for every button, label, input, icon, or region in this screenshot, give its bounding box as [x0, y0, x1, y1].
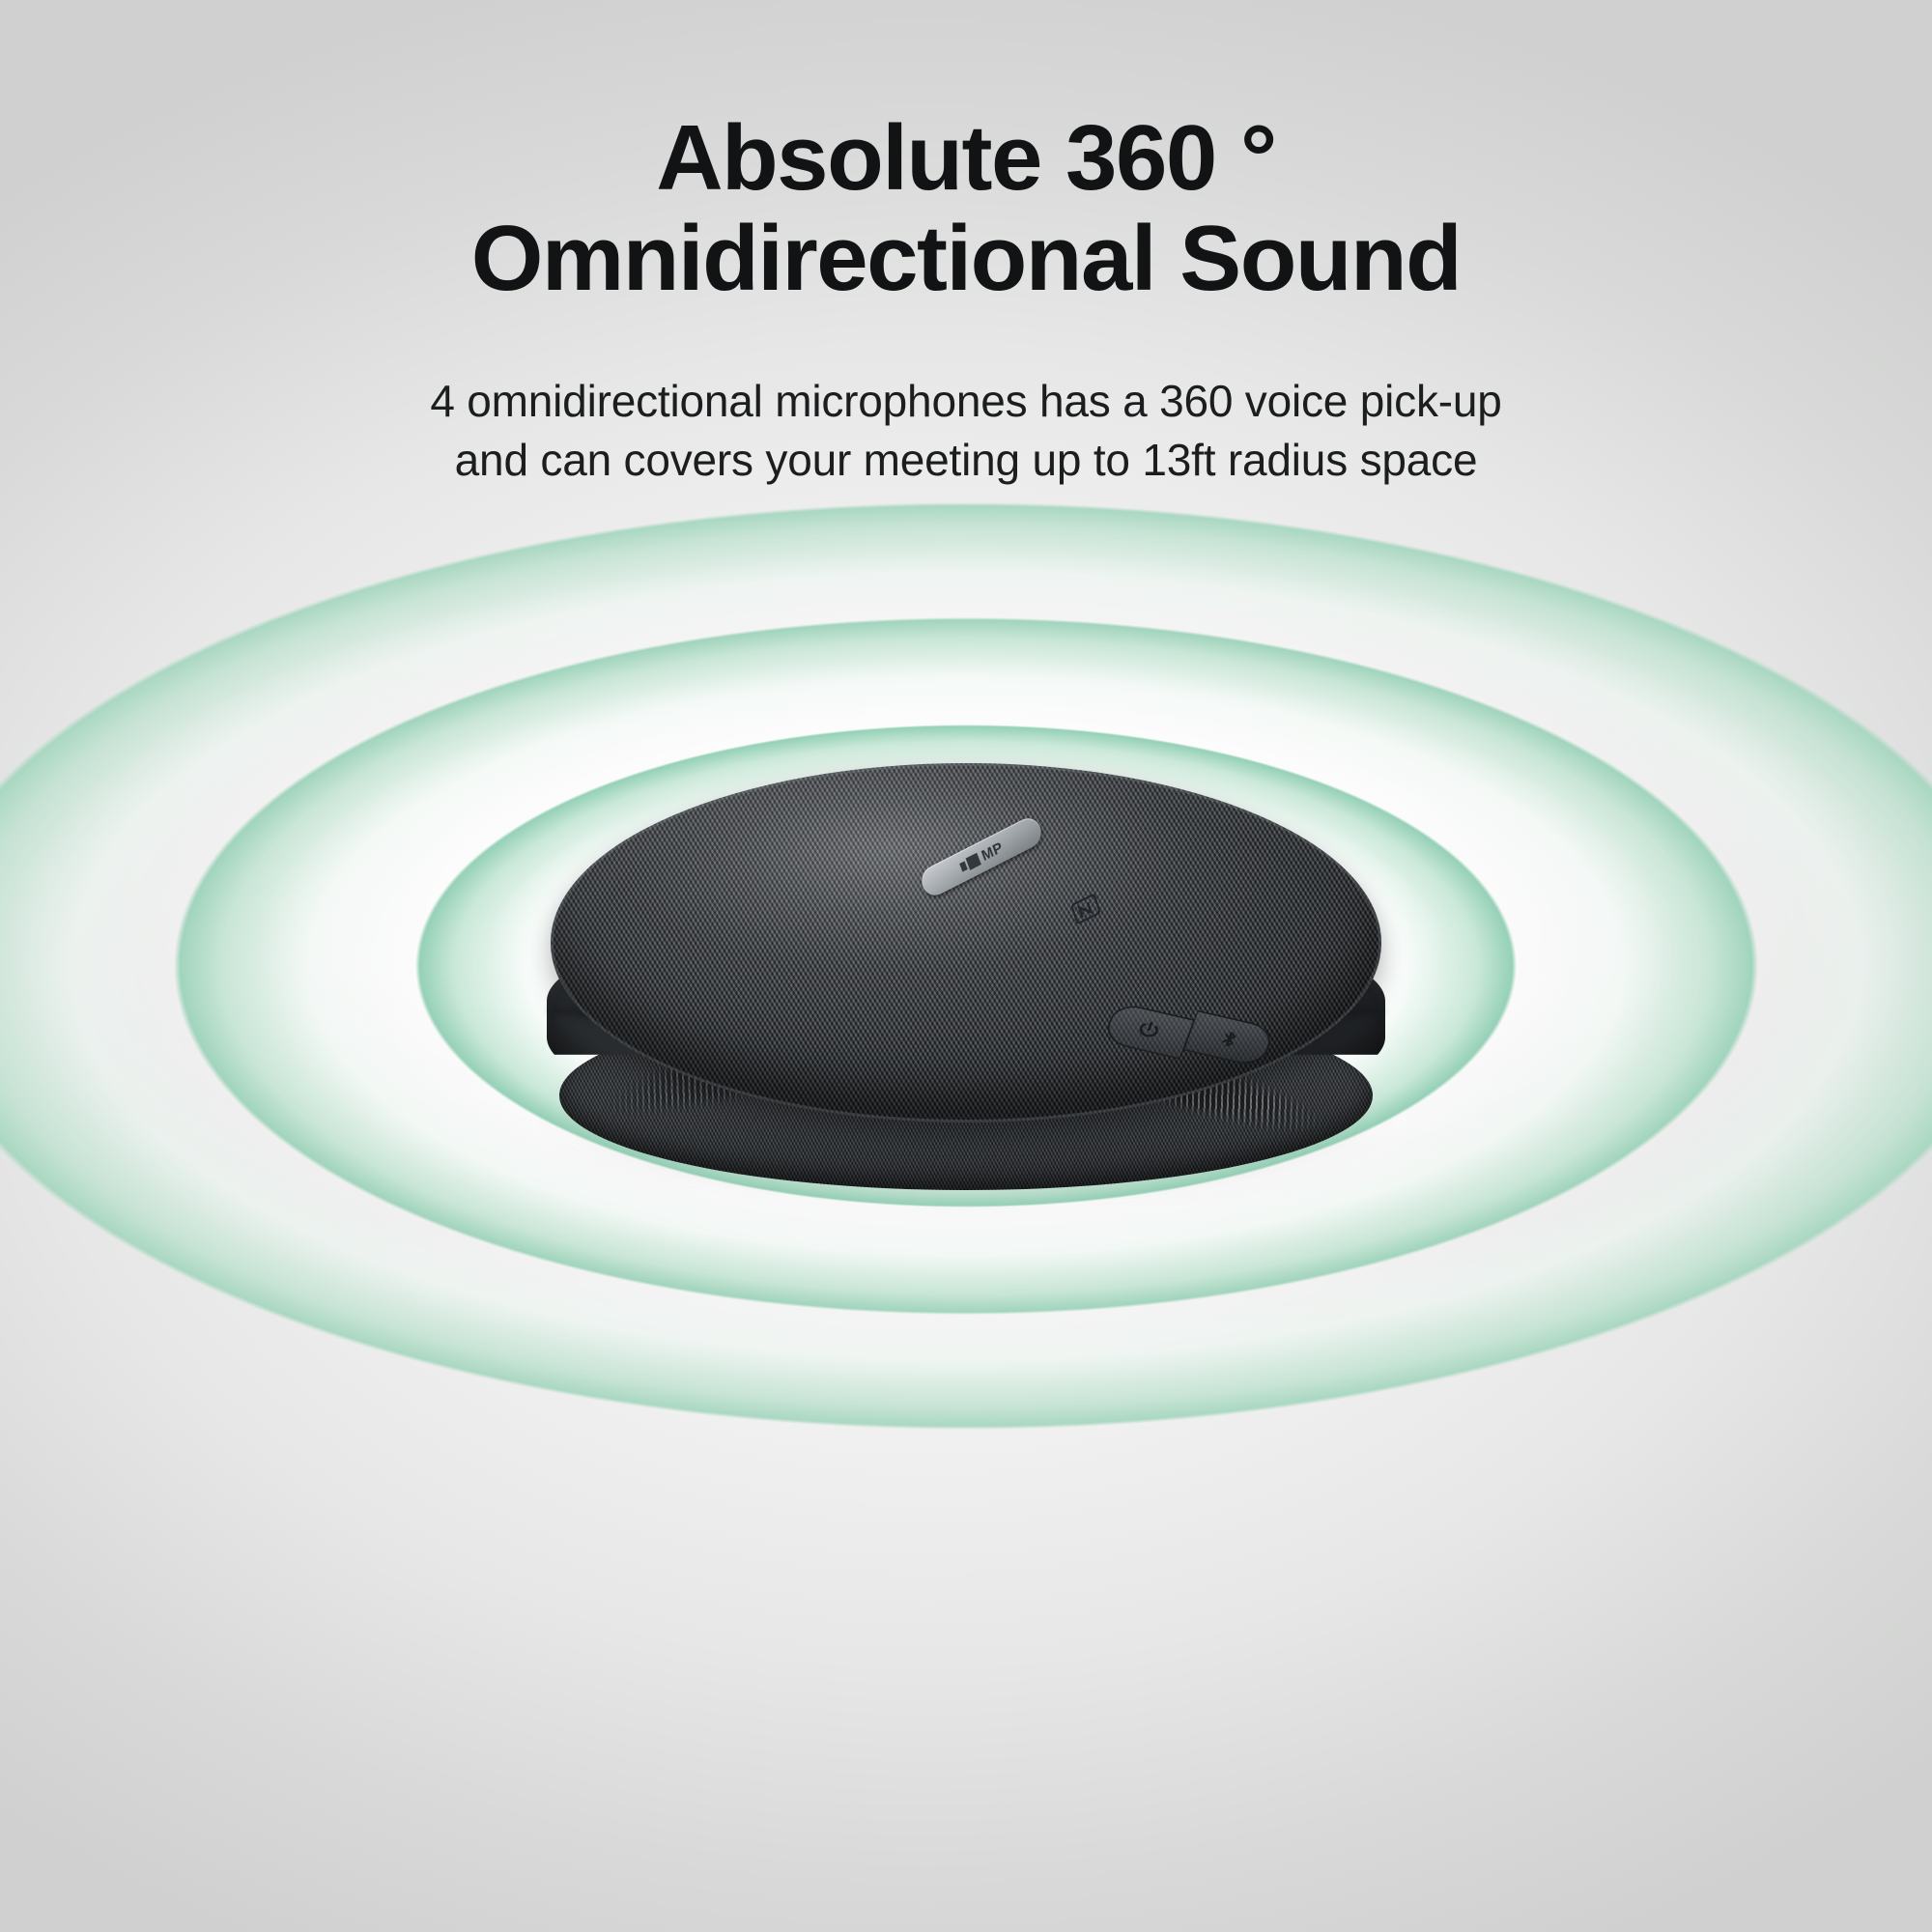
brand-mark-icon — [958, 852, 980, 873]
text-block: Absolute 360 ° Omnidirectional Sound 4 o… — [0, 0, 1932, 490]
subhead-line-1: 4 omnidirectional microphones has a 360 … — [0, 372, 1932, 431]
page-title: Absolute 360 ° Omnidirectional Sound — [0, 0, 1932, 308]
speakerphone-device: MP — [531, 763, 1401, 1217]
subhead-line-2: and can covers your meeting up to 13ft r… — [0, 431, 1932, 490]
brand-badge-label: MP — [980, 839, 1005, 864]
headline-line-2: Omnidirectional Sound — [0, 209, 1932, 309]
device-top-highlight — [601, 763, 1182, 972]
headline-line-1: Absolute 360 ° — [0, 108, 1932, 209]
page-subtitle: 4 omnidirectional microphones has a 360 … — [0, 308, 1932, 489]
bluetooth-icon — [1212, 1026, 1246, 1052]
power-icon — [1130, 1016, 1166, 1044]
product-feature-banner: MP Absolute 3 — [0, 0, 1932, 1932]
